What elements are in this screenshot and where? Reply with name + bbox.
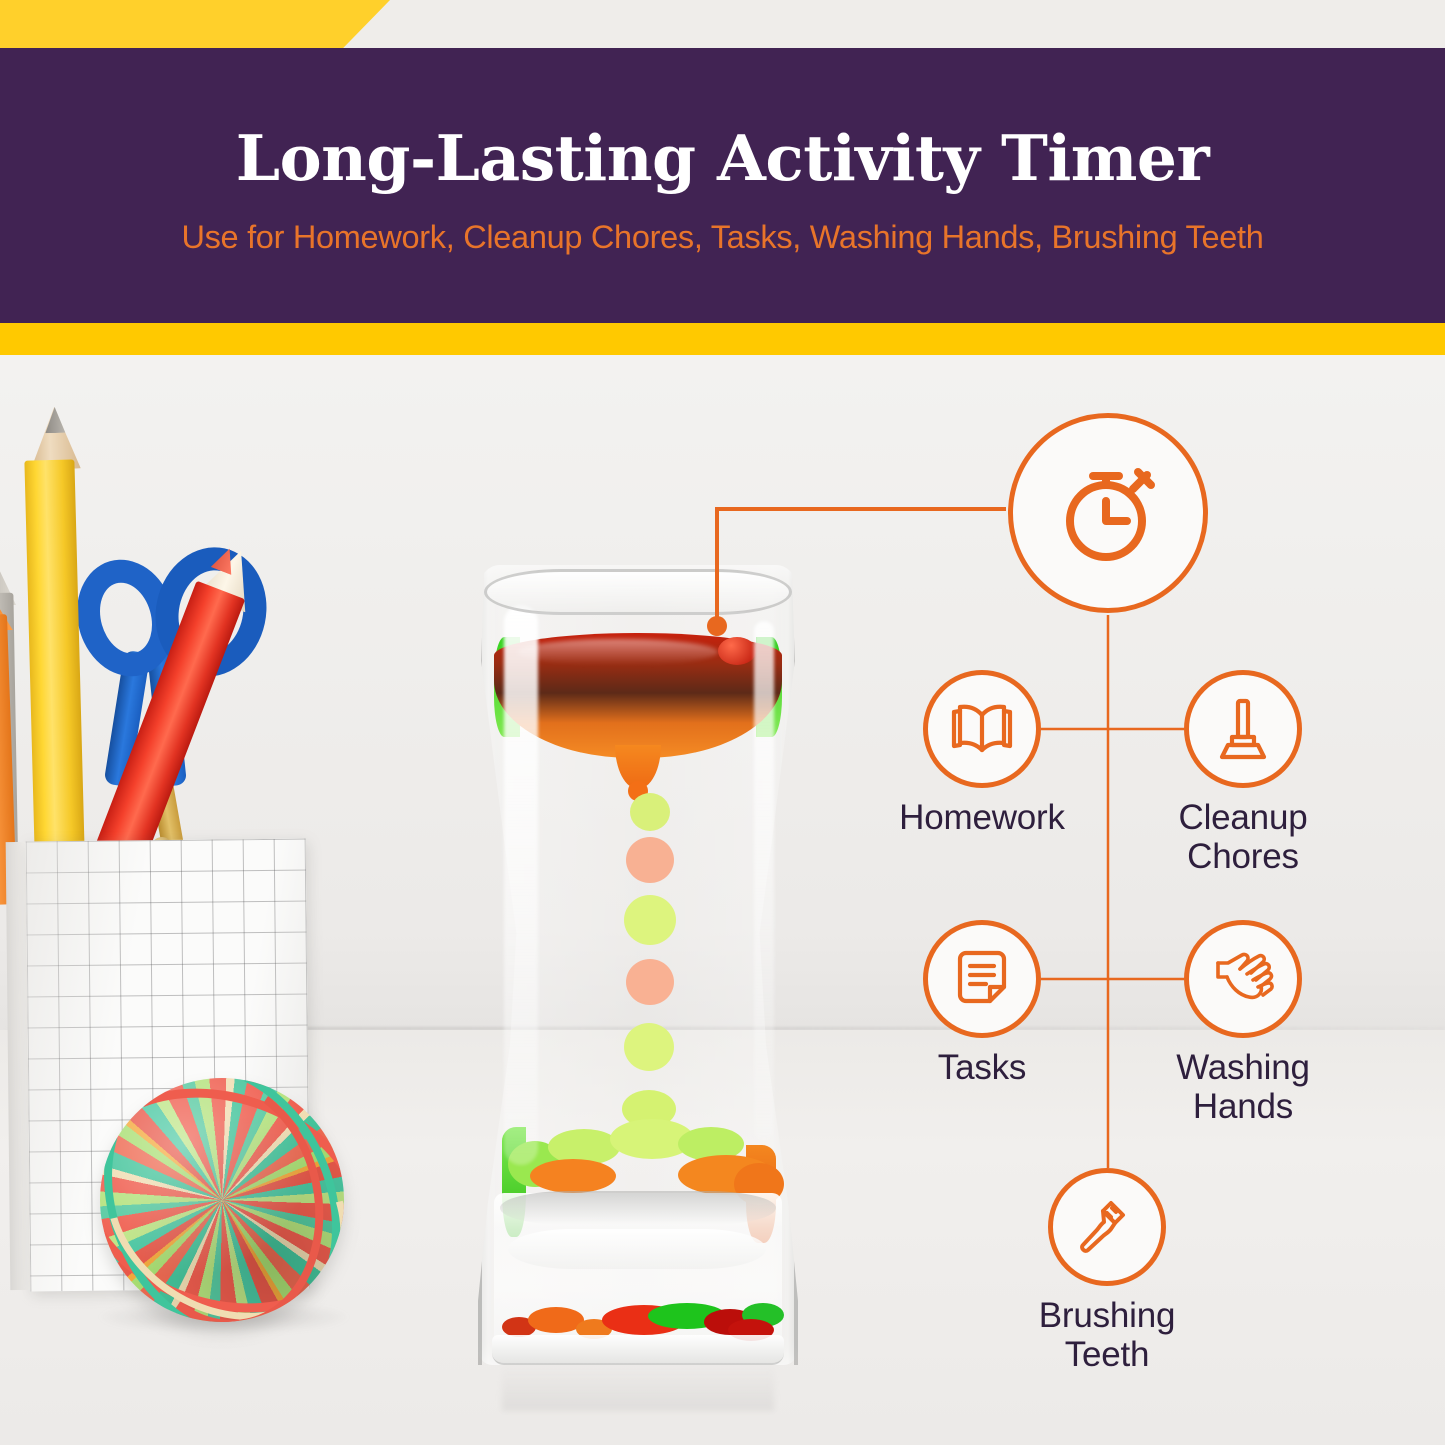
- glass-highlight-left: [504, 605, 538, 1165]
- timer-glass-base: [492, 1335, 784, 1365]
- oil-sheen: [518, 639, 718, 665]
- water-meniscus-lower: [508, 1229, 766, 1269]
- yellow-wedge-accent: [0, 0, 390, 48]
- falling-droplet: [624, 1023, 674, 1071]
- brushing-label: Brushing Teeth: [948, 1296, 1266, 1374]
- callout-node-washing[interactable]: Washing Hands: [1184, 920, 1302, 1038]
- falling-droplet: [630, 793, 670, 831]
- callout-node-homework[interactable]: Homework: [923, 670, 1041, 788]
- callout-node-stopwatch[interactable]: [1008, 413, 1208, 613]
- homework-circle: [923, 670, 1041, 788]
- washing-circle: [1184, 920, 1302, 1038]
- toothbrush-icon: [1071, 1191, 1143, 1263]
- oil-lobe: [530, 1159, 616, 1193]
- header-yellow-bar: [0, 323, 1445, 355]
- tasks-circle: [923, 920, 1041, 1038]
- falling-droplet: [624, 895, 676, 945]
- document-list-icon: [946, 943, 1018, 1015]
- page-subtitle: Use for Homework, Cleanup Chores, Tasks,…: [181, 219, 1263, 256]
- falling-droplet: [626, 837, 674, 883]
- page-root: Long-Lasting Activity Timer Use for Home…: [0, 0, 1445, 1445]
- stopwatch-circle: [1008, 413, 1208, 613]
- cleanup-label: Cleanup Chores: [1084, 798, 1402, 876]
- red-oil-bubble: [718, 637, 756, 665]
- header-banner: Long-Lasting Activity Timer Use for Home…: [0, 48, 1445, 323]
- product-photo: [0, 355, 1445, 1445]
- glass-highlight-right: [754, 621, 774, 1141]
- water-meniscus-upper: [500, 1191, 776, 1225]
- page-title: Long-Lasting Activity Timer: [236, 125, 1209, 191]
- timer-table-reflection: [502, 1365, 774, 1411]
- liquid-motion-timer: [478, 565, 798, 1400]
- header-top-strip: [0, 0, 1445, 48]
- timer-glass-rim: [484, 569, 792, 615]
- callout-node-cleanup[interactable]: Cleanup Chores: [1184, 670, 1302, 788]
- washing-hands-icon: [1205, 941, 1281, 1017]
- stopwatch-icon: [1048, 453, 1168, 573]
- washing-label: Washing Hands: [1084, 1048, 1402, 1126]
- brushing-circle: [1048, 1168, 1166, 1286]
- callout-node-brushing[interactable]: Brushing Teeth: [1048, 1168, 1166, 1286]
- callout-node-tasks[interactable]: Tasks: [923, 920, 1041, 1038]
- rubber-band-ball: [100, 1078, 344, 1322]
- falling-droplet: [626, 959, 674, 1005]
- plunger-icon: [1207, 693, 1279, 765]
- open-book-icon: [946, 693, 1018, 765]
- cleanup-circle: [1184, 670, 1302, 788]
- lower-oil-arch: [502, 1117, 774, 1195]
- yellow-pencil: [24, 459, 85, 890]
